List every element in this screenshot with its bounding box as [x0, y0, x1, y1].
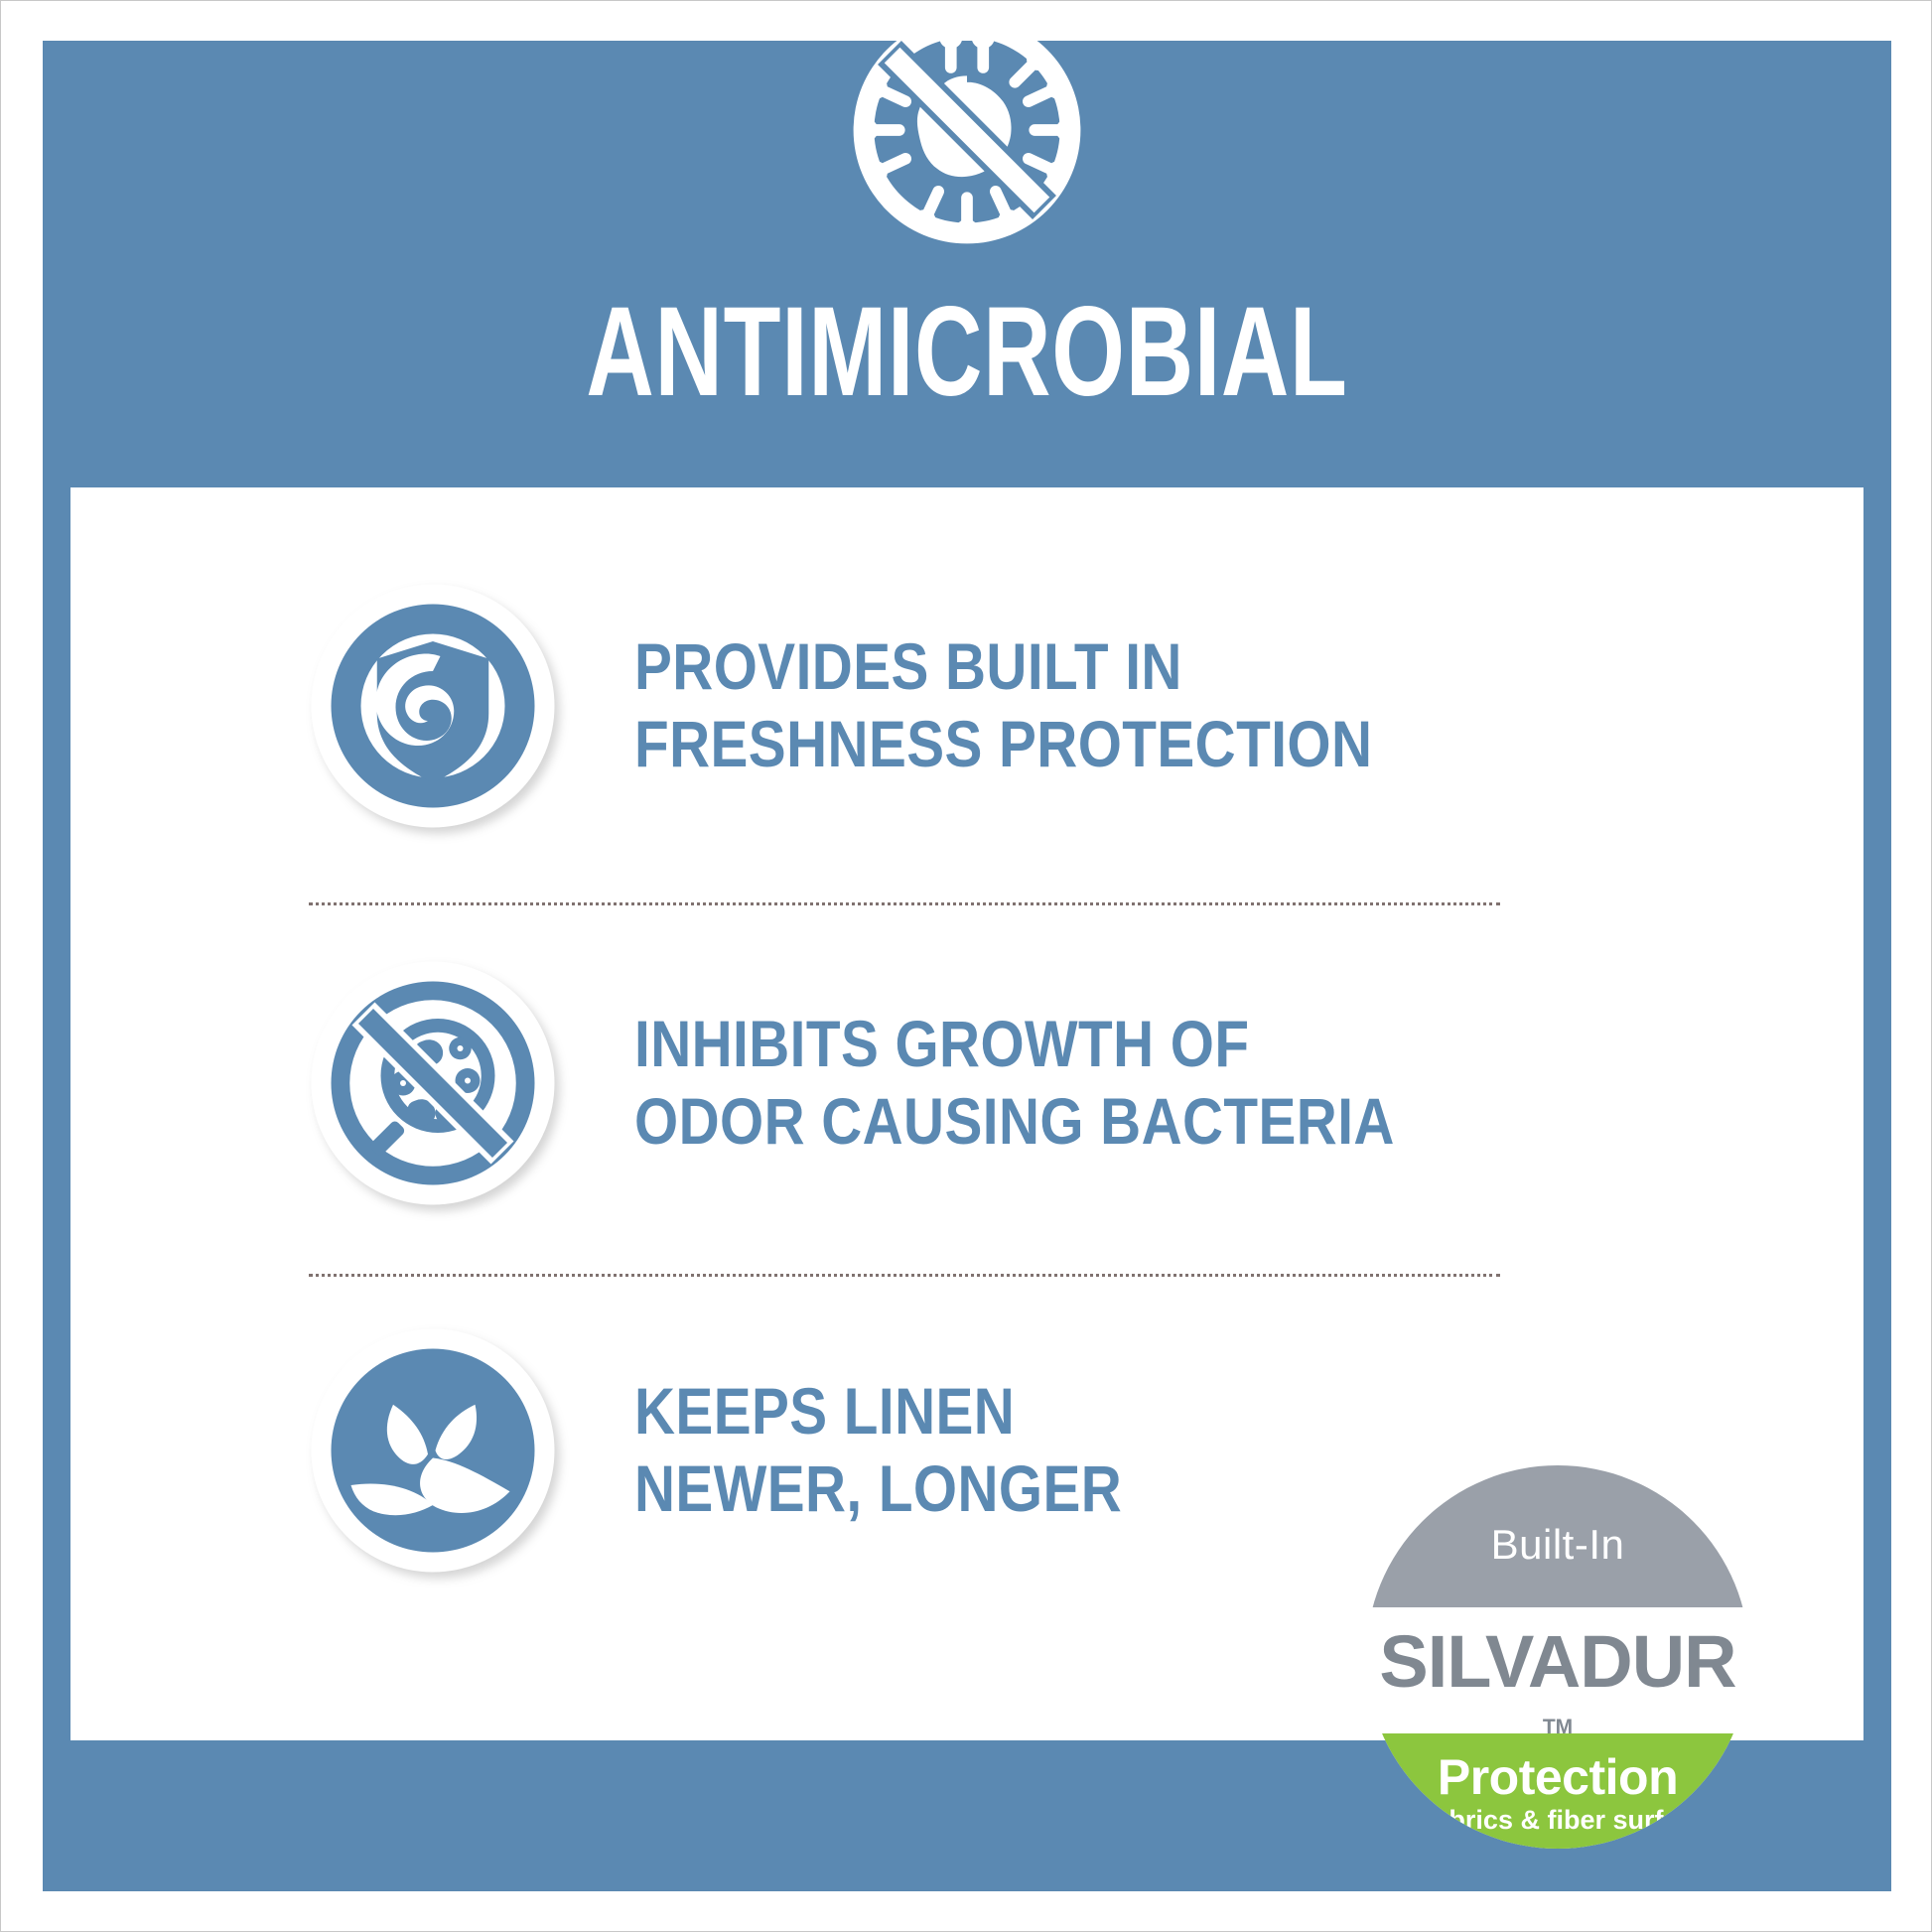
silvadur-wordmark: SILVADUR — [1379, 1625, 1735, 1699]
feature-list: PROVIDES BUILT IN FRESHNESS PROTECTION — [70, 487, 1863, 1740]
sprout-leaf-icon — [309, 1326, 557, 1575]
blue-frame-panel: ANTIMICROBIAL PROVIDES BUILT IN FRESHNES — [43, 41, 1891, 1891]
content-card: PROVIDES BUILT IN FRESHNESS PROTECTION — [70, 487, 1863, 1740]
silvadur-built-in-label: Built-In — [1491, 1521, 1625, 1569]
feature-label: INHIBITS GROWTH OF ODOR CAUSING BACTERIA — [634, 1006, 1395, 1161]
page-title: ANTIMICROBIAL — [283, 289, 1651, 416]
silvadur-logo: Built-In SILVADURTM Antimicrobial Techno… — [1366, 1465, 1749, 1849]
no-virus-icon — [838, 1, 1096, 259]
feature-label: PROVIDES BUILT IN FRESHNESS PROTECTION — [634, 628, 1372, 783]
silvadur-protection-sublabel: to fabrics & fiber surfaces — [1366, 1806, 1749, 1836]
header: ANTIMICROBIAL — [43, 41, 1891, 487]
no-bacteria-magnifier-icon — [309, 959, 557, 1207]
silvadur-protection-segment: Protection to fabrics & fiber surfaces — [1366, 1733, 1749, 1849]
feature-label: KEEPS LINEN NEWER, LONGER — [634, 1373, 1122, 1528]
page-canvas: ANTIMICROBIAL PROVIDES BUILT IN FRESHNES — [0, 0, 1932, 1932]
feature-row: PROVIDES BUILT IN FRESHNESS PROTECTION — [309, 537, 1659, 875]
silvadur-built-in-segment: Built-In — [1366, 1465, 1749, 1607]
silvadur-protection-label: Protection — [1366, 1751, 1749, 1804]
row-divider — [309, 1274, 1500, 1277]
row-divider — [309, 902, 1500, 905]
silvadur-wordmark-segment: SILVADURTM Antimicrobial Technology — [1366, 1607, 1749, 1733]
shield-swirl-icon — [309, 582, 557, 830]
feature-row: INHIBITS GROWTH OF ODOR CAUSING BACTERIA — [309, 914, 1659, 1252]
